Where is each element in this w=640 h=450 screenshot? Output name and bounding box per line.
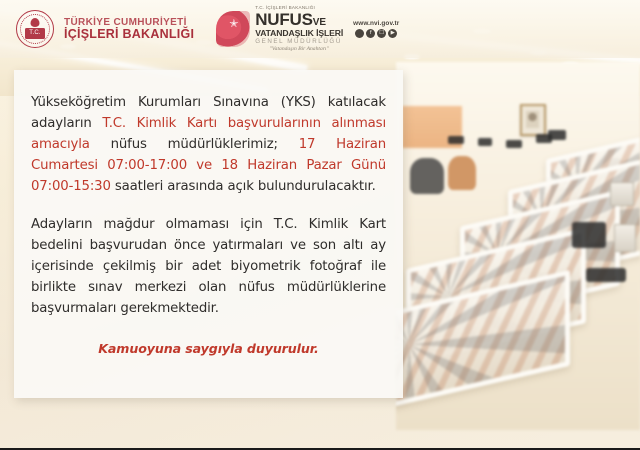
announcement-panel: Yükseköğretim Kurumları Sınavına (YKS) k… [14, 70, 403, 398]
announcement-screenshot: T.C. TÜRKİYE CUMHURİYETİ İÇİŞLERİ BAKANL… [0, 0, 640, 450]
social-links: 𝇳 f ☐ ▶ [355, 29, 397, 38]
twitter-icon[interactable]: 𝇳 [355, 29, 364, 38]
counter-monitor [548, 130, 566, 140]
emblem-plate-label: T.C. [25, 28, 45, 39]
counter-monitor [478, 138, 492, 146]
facebook-icon[interactable]: f [366, 29, 375, 38]
website-and-socials: www.nvi.gov.tr 𝇳 f ☐ ▶ [353, 20, 399, 38]
announcement-paragraph-2: Adayların mağdur olmaması için T.C. Kiml… [31, 214, 386, 319]
office-chair [448, 156, 476, 190]
nvi-title-dept: GENEL MÜDÜRLÜĞÜ [255, 39, 343, 45]
nvi-wordmark: T.C. İÇİŞLERİ BAKANLIĞI NUFUSVE VATANDAŞ… [255, 6, 343, 53]
counter-monitor [506, 140, 522, 148]
turkish-state-emblem-icon: T.C. [16, 10, 54, 48]
paragraph1-segment-3: nüfus müdürlüklerimiz; [90, 137, 299, 152]
nvi-title-main: NUFUSVE [255, 11, 343, 28]
office-interior [396, 62, 640, 430]
paragraph1-segment-5: saatleri arasında açık bulundurulacaktır… [111, 179, 376, 194]
counter-monitor [448, 136, 464, 144]
page-header: T.C. TÜRKİYE CUMHURİYETİ İÇİŞLERİ BAKANL… [0, 0, 640, 58]
star-glyph: ✭ [229, 18, 238, 29]
instagram-icon[interactable]: ☐ [377, 29, 386, 38]
announcement-closing-line: Kamuoyuna saygıyla duyurulur. [31, 341, 386, 356]
nvi-title-sub: VATANDAŞLIK İŞLERİ [255, 29, 343, 38]
nvi-slogan: "Vatandaşın Bir Anahtarı" [255, 47, 343, 53]
wall-portrait [520, 104, 546, 136]
office-chair [410, 158, 444, 194]
youtube-icon[interactable]: ▶ [388, 29, 397, 38]
nvi-logo: ✭ T.C. İÇİŞLERİ BAKANLIĞI NUFUSVE VATAND… [216, 6, 343, 53]
website-url[interactable]: www.nvi.gov.tr [353, 20, 399, 27]
ministry-line2: İÇİŞLERİ BAKANLIĞI [64, 28, 194, 41]
turkish-flag-star-icon: ✭ [216, 11, 250, 47]
announcement-paragraph-1: Yükseköğretim Kurumları Sınavına (YKS) k… [31, 92, 386, 197]
office-printer [614, 224, 636, 252]
nvi-title-conj: VE [313, 17, 326, 28]
ministry-wordmark: TÜRKİYE CUMHURİYETİ İÇİŞLERİ BAKANLIĞI [64, 18, 194, 41]
counter-monitor [572, 222, 606, 248]
counter-monitor [586, 268, 626, 282]
emblem-crescent-icon [31, 18, 40, 27]
office-printer [610, 182, 634, 206]
